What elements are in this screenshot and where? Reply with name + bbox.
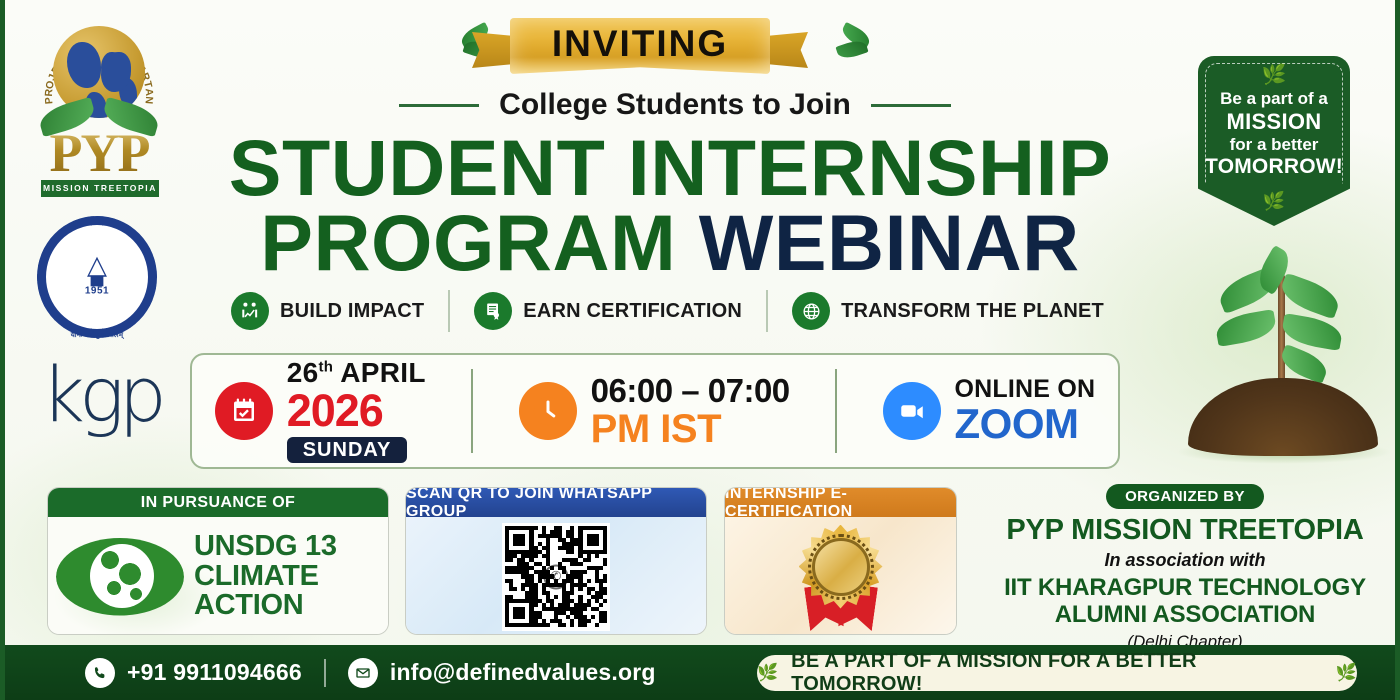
footer-divider — [324, 659, 326, 687]
card-unsdg-body: UNSDG 13 CLIMATE ACTION — [194, 532, 337, 621]
footer-email-text: info@definedvalues.org — [390, 659, 656, 686]
footer-phone[interactable]: +91 9911094666 — [85, 658, 302, 688]
card-unsdg-header: IN PURSUANCE OF — [48, 488, 388, 517]
envelope-icon — [348, 658, 378, 688]
feature-label: TRANSFORM THE PLANET — [841, 300, 1104, 323]
page-title-program: PROGRAM — [260, 198, 676, 287]
pyp-ribbon-label: MISSION TREETOPIA — [41, 180, 159, 197]
leaf-icon — [833, 28, 873, 50]
card-e-certification-header: INTERNSHIP E-CERTIFICATION — [725, 488, 956, 517]
card-e-certification: INTERNSHIP E-CERTIFICATION — [724, 487, 957, 635]
unsdg-line3: ACTION — [194, 591, 337, 621]
feature-divider — [766, 290, 768, 332]
card-whatsapp-qr: SCAN QR TO JOIN WHATSAPP GROUP ✆ — [405, 487, 707, 635]
footer-tagline: BE A PART OF A MISSION FOR A BETTER TOMO… — [791, 650, 1323, 696]
partner-line1: IIT KHARAGPUR TECHNOLOGY — [970, 575, 1400, 602]
detail-divider — [835, 369, 837, 453]
phone-icon — [85, 658, 115, 688]
globe-icon — [792, 292, 830, 330]
event-platform: ONLINE ON ZOOM — [883, 377, 1096, 445]
logo-column: PROJECT YUG PARIVARTAN PYP MISSION TREET… — [23, 8, 183, 430]
feature-transform-planet: TRANSFORM THE PLANET — [792, 292, 1104, 330]
iit-year: 1951 — [63, 285, 131, 296]
event-details-bar: 26th APRIL 2026 SUNDAY 06:00 – 07:00 PM … — [190, 353, 1120, 469]
event-date-year: 2026 — [287, 388, 426, 433]
detail-divider — [471, 369, 473, 453]
banyan-tree-icon: △ — [63, 253, 131, 275]
video-camera-icon — [883, 382, 941, 440]
ktaa-monogram-icon: kgp — [41, 360, 183, 430]
clock-icon — [519, 382, 577, 440]
event-time: 06:00 – 07:00 PM IST — [519, 374, 790, 449]
certificate-icon — [474, 292, 512, 330]
event-date: 26th APRIL 2026 SUNDAY — [215, 359, 426, 463]
platform-prefix: ONLINE ON — [955, 377, 1096, 402]
organized-by-badge: ORGANIZED BY — [1106, 484, 1264, 509]
card-whatsapp-qr-header: SCAN QR TO JOIN WHATSAPP GROUP — [406, 488, 706, 517]
unsdg-line2: CLIMATE — [194, 562, 337, 592]
people-growth-icon — [231, 292, 269, 330]
feature-row: BUILD IMPACT EARN CERTIFICATION — [210, 290, 1125, 332]
iit-kharagpur-crest-icon: △ ██ 1951 योगः कर्मसु कौशलम् — [37, 216, 157, 338]
feature-label: EARN CERTIFICATION — [523, 300, 742, 323]
organizer-connector: In association with — [970, 550, 1400, 571]
page-title-line1: STUDENT INTERNSHIP — [195, 128, 1145, 207]
award-medal-icon — [793, 525, 889, 629]
calendar-icon — [215, 382, 273, 440]
divider-right — [871, 104, 951, 107]
pyp-monogram: PYP — [23, 122, 175, 184]
feature-divider — [448, 290, 450, 332]
pyp-logo: PROJECT YUG PARIVARTAN PYP MISSION TREET… — [23, 8, 175, 200]
iit-crest-inner: △ ██ 1951 — [63, 253, 131, 296]
footer-bar: +91 9911094666 info@definedvalues.org 🌿 … — [5, 645, 1400, 700]
organizer-block: ORGANIZED BY PYP MISSION TREETOPIA In as… — [970, 484, 1400, 652]
card-unsdg: IN PURSUANCE OF UNSDG 13 CLIMATE ACTION — [47, 487, 389, 635]
ribbon-label: INVITING — [552, 23, 728, 65]
organizer-partner: IIT KHARAGPUR TECHNOLOGY ALUMNI ASSOCIAT… — [970, 575, 1400, 629]
footer-phone-text: +91 9911094666 — [127, 659, 302, 686]
organizer-primary: PYP MISSION TREETOPIA — [970, 514, 1400, 547]
platform-name: ZOOM — [955, 403, 1096, 445]
feature-earn-certification: EARN CERTIFICATION — [474, 292, 742, 330]
sprout-icon: 🌿 — [1198, 191, 1350, 212]
iit-motto: योगः कर्मसु कौशलम् — [37, 331, 157, 340]
leaf-icon: 🌿 — [757, 663, 778, 683]
leaf-icon: 🌿 — [1336, 663, 1357, 683]
event-time-zone: PM IST — [591, 409, 790, 449]
partner-line2: ALUMNI ASSOCIATION — [970, 602, 1400, 629]
footer-email[interactable]: info@definedvalues.org — [348, 658, 656, 688]
open-book-icon: ██ — [63, 275, 131, 285]
subtitle-text: College Students to Join — [499, 88, 851, 122]
event-date-weekday: SUNDAY — [287, 437, 408, 463]
subtitle-row: College Students to Join — [365, 88, 985, 122]
poster-canvas: PROJECT YUG PARIVARTAN PYP MISSION TREET… — [0, 0, 1400, 700]
event-date-daymonth: 26th APRIL — [287, 359, 426, 387]
feature-label: BUILD IMPACT — [280, 300, 424, 323]
seedling-illustration — [1170, 252, 1400, 464]
event-time-range: 06:00 – 07:00 — [591, 374, 790, 407]
page-title-webinar: WEBINAR — [699, 198, 1080, 287]
inviting-ribbon: INVITING — [510, 18, 770, 80]
page-title-line2: PROGRAM WEBINAR — [195, 203, 1145, 282]
mission-badge: 🌿 Be a part of a MISSION for a better TO… — [1198, 56, 1350, 226]
feature-build-impact: BUILD IMPACT — [231, 292, 424, 330]
divider-left — [399, 104, 479, 107]
unsdg-line1: UNSDG 13 — [194, 532, 337, 562]
qr-code-icon[interactable]: ✆ — [502, 523, 610, 631]
footer-tagline-pill: 🌿 BE A PART OF A MISSION FOR A BETTER TO… — [757, 655, 1357, 691]
eye-globe-icon — [56, 538, 184, 616]
